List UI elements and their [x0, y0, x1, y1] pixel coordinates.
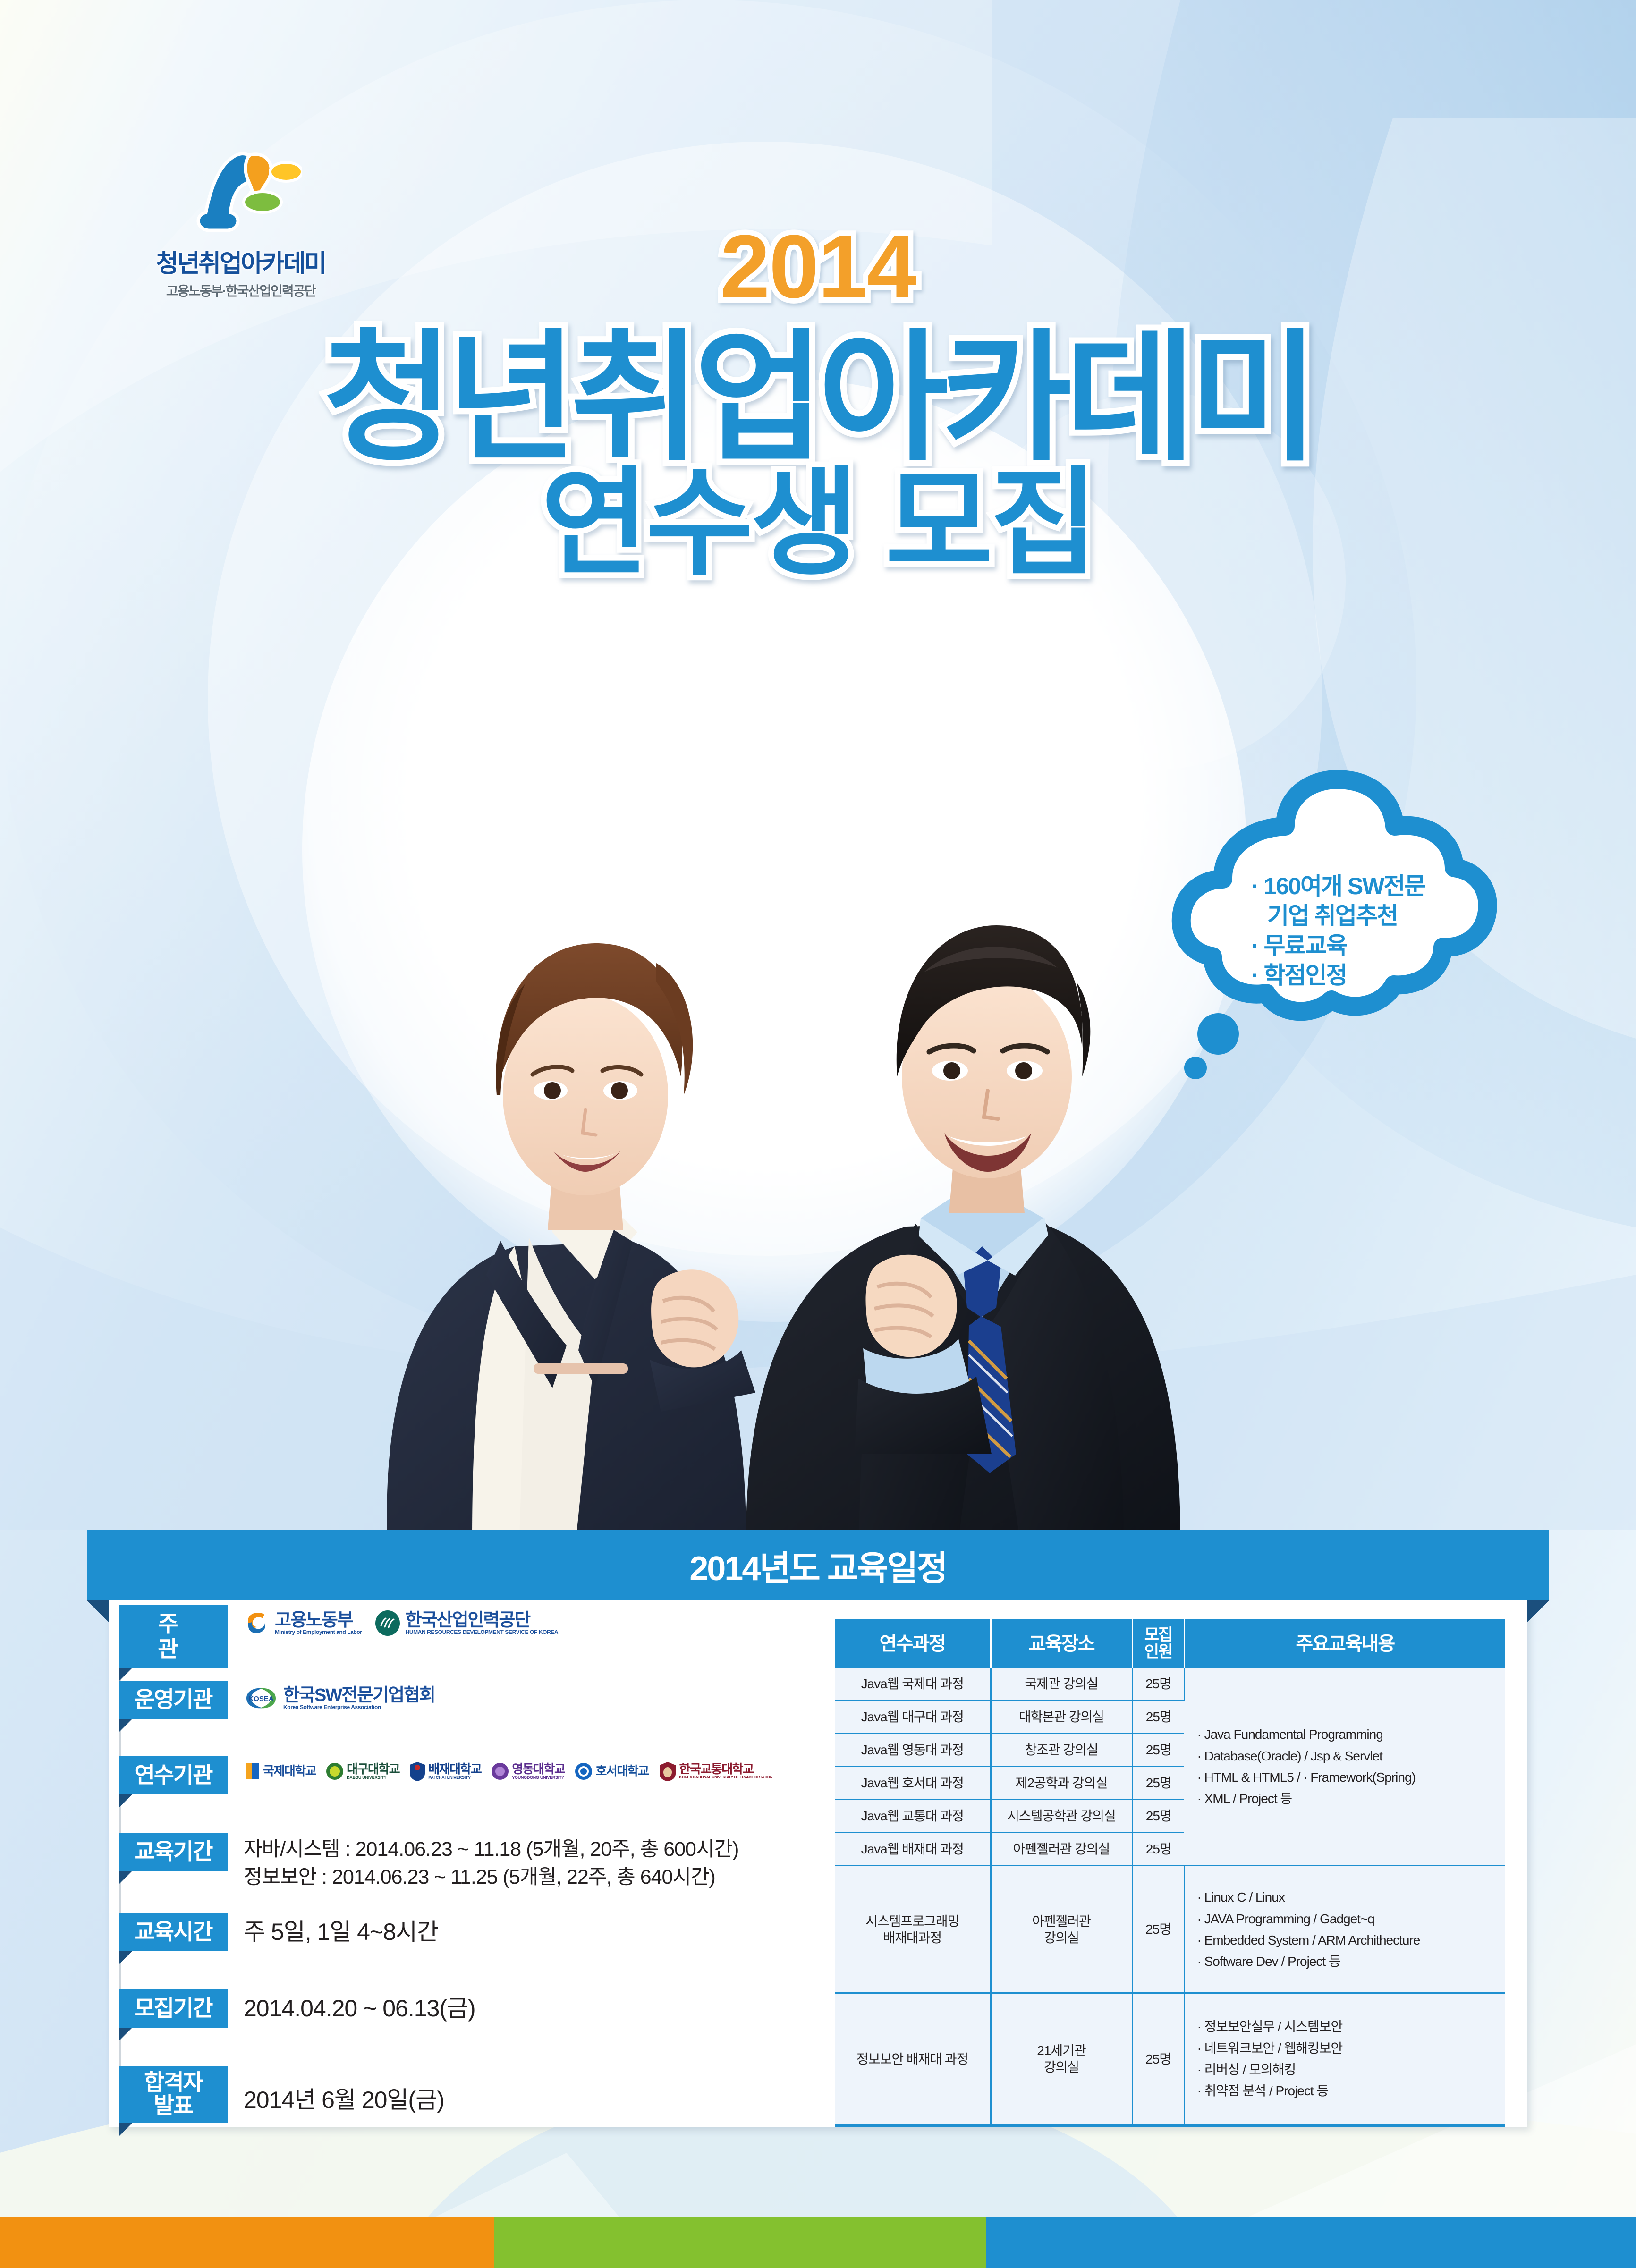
desc-line: · XML / Project 등 — [1197, 1788, 1503, 1809]
info-row-operator: 운영기관 KOSEA 한국SW전문기업협회 Korea Software Ent… — [119, 1681, 813, 1752]
cell-course: Java웹 대구대 과정 — [835, 1701, 991, 1734]
uni-knut: 한국교통대학교 KOREA NATIONAL UNIVERSITY OF TRA… — [658, 1761, 773, 1782]
schedule-banner: 2014년도 교육일정 — [0, 1530, 1636, 1615]
students-photo — [331, 718, 1204, 1539]
headline-year: 2014 — [0, 222, 1636, 312]
cell-place: 제2공학과 강의실 — [991, 1767, 1132, 1800]
result-announcement-line-0: 2014년 6월 20일(금) — [244, 2084, 444, 2116]
logo-kosea-en: Korea Software Enterprise Association — [283, 1704, 435, 1710]
desc-line: · Linux C / Linux — [1197, 1887, 1503, 1908]
th-course: 연수과정 — [835, 1619, 991, 1668]
tab-training-period: 교육기간 — [119, 1833, 228, 1871]
info-row-training-period: 교육기간 자바/시스템 : 2014.06.23 ~ 11.18 (5개월, 2… — [119, 1833, 813, 1908]
footer-strip-orange — [0, 2217, 494, 2268]
uni-knut-en: KOREA NATIONAL UNIVERSITY OF TRANSPORTAT… — [679, 1776, 773, 1779]
uni-badge-icon — [658, 1761, 677, 1782]
logo-moel: 고용노동부 Ministry of Employment and Labor — [244, 1610, 362, 1636]
footer-strip-blue — [986, 2217, 1636, 2268]
uni-badge-icon — [409, 1761, 426, 1782]
footer-color-strip — [0, 2217, 1636, 2268]
application-period-line-0: 2014.04.20 ~ 06.13(금) — [244, 1992, 475, 2025]
cell-capacity: 25명 — [1132, 1833, 1184, 1866]
logo-moel-ko: 고용노동부 — [275, 1611, 362, 1629]
desc-line: · HTML & HTML5 / · Framework(Spring) — [1197, 1767, 1503, 1788]
desc-line: · Software Dev / Project 등 — [1197, 1951, 1503, 1972]
uni-kukje-ko: 국제대학교 — [263, 1765, 316, 1777]
uni-badge-icon — [491, 1761, 509, 1781]
tab-fold-icon — [119, 2028, 132, 2041]
cell-description-group2: · Linux C / Linux · JAVA Programming / G… — [1184, 1866, 1505, 1993]
cell-place: 21세기관 강의실 — [991, 1993, 1132, 2125]
headline-line1: 청년취업아카데미 — [0, 329, 1636, 467]
tab-operator: 운영기관 — [119, 1681, 228, 1719]
tab-operator-label: 운영기관 — [119, 1681, 228, 1719]
logo-hrdkorea-en: HUMAN RESOURCES DEVELOPMENT SERVICE OF K… — [406, 1629, 559, 1635]
uni-kukje: 국제대학교 — [244, 1761, 316, 1781]
banner-title: 2014년도 교육일정 — [689, 1540, 947, 1590]
cloud-line-2: · 무료교육 — [1251, 931, 1483, 961]
uni-paichai: 배재대학교 PAI CHAI UNIVERSITY — [409, 1761, 481, 1782]
uni-youngdong: 영동대학교 YOUNGDONG UNIVERSITY — [491, 1761, 565, 1781]
tab-fold-icon — [119, 1719, 132, 1732]
tab-training-hours: 교육시간 — [119, 1913, 228, 1951]
desc-line: · 리버싱 / 모의해킹 — [1197, 2059, 1503, 2080]
desc-line: · Java Fundamental Programming — [1197, 1724, 1503, 1745]
cloud-line-3: · 학점인정 — [1251, 961, 1483, 990]
training-period-values: 자바/시스템 : 2014.06.23 ~ 11.18 (5개월, 20주, 총… — [228, 1833, 738, 1892]
table-row: 시스템프로그래밍 배재대과정 아펜젤러관 강의실 25명 · Linux C /… — [835, 1866, 1505, 1993]
tab-fold-icon — [119, 1951, 132, 1964]
uni-daegu: 대구대학교 DAEGU UNIVERSITY — [325, 1761, 399, 1781]
tab-fold-icon — [119, 2123, 132, 2136]
kosea-mark-icon: KOSEA — [244, 1685, 279, 1711]
uni-youngdong-en: YOUNGDONG UNIVERSITY — [512, 1776, 565, 1780]
info-row-training-institutions: 연수기관 국제대학교 대구대학교 DAEGU UNIVERSITY — [119, 1756, 813, 1828]
training-hours-line-0: 주 5일, 1일 4~8시간 — [244, 1916, 438, 1948]
tab-training-period-label: 교육기간 — [119, 1833, 228, 1871]
tab-fold-icon — [119, 1794, 132, 1808]
headline-block: 2014 청년취업아카데미 연수생 모집 — [0, 222, 1636, 582]
cell-capacity: 25명 — [1132, 1701, 1184, 1734]
cell-course: 시스템프로그래밍 배재대과정 — [835, 1866, 991, 1993]
cell-place: 국제관 강의실 — [991, 1668, 1132, 1701]
cloud-benefits-text: · 160여개 SW전문 기업 취업추천 · 무료교육 · 학점인정 — [1251, 872, 1483, 990]
cell-place: 대학본관 강의실 — [991, 1701, 1132, 1734]
uni-knut-ko: 한국교통대학교 — [679, 1763, 773, 1776]
tab-training-institutions: 연수기관 — [119, 1756, 228, 1794]
logo-kosea-ko: 한국SW전문기업협회 — [283, 1686, 435, 1704]
table-row: 정보보안 배재대 과정 21세기관 강의실 25명 · 정보보안실무 / 시스템… — [835, 1993, 1505, 2125]
uni-youngdong-ko: 영동대학교 — [512, 1763, 565, 1776]
cell-capacity: 25명 — [1132, 1734, 1184, 1767]
info-list: 주 관 고용노동부 Ministry of Employment and Lab… — [119, 1605, 813, 2146]
svg-text:KOSEA: KOSEA — [248, 1695, 274, 1703]
operator-logos: KOSEA 한국SW전문기업협회 Korea Software Enterpri… — [228, 1681, 435, 1711]
th-place: 교육장소 — [991, 1619, 1132, 1668]
cell-place: 아펜젤러관 강의실 — [991, 1833, 1132, 1866]
tab-training-institutions-label: 연수기관 — [119, 1756, 228, 1794]
schedule-table: 연수과정 교육장소 모집 인원 주요교육내용 Java웹 국제대 과정 국제관 … — [835, 1619, 1505, 2127]
banner-bar: 2014년도 교육일정 — [87, 1530, 1549, 1600]
application-period-values: 2014.04.20 ~ 06.13(금) — [228, 1989, 475, 2025]
cell-course: Java웹 호서대 과정 — [835, 1767, 991, 1800]
uni-daegu-ko: 대구대학교 — [347, 1763, 399, 1776]
info-row-result-announcement: 합격자 발표 2014년 6월 20일(금) — [119, 2066, 813, 2141]
result-announcement-values: 2014년 6월 20일(금) — [228, 2066, 444, 2116]
desc-line: · 네트워크보안 / 웹해킹보안 — [1197, 2038, 1503, 2059]
info-row-training-hours: 교육시간 주 5일, 1일 4~8시간 — [119, 1913, 813, 1985]
cell-course: Java웹 교통대 과정 — [835, 1800, 991, 1833]
th-description: 주요교육내용 — [1184, 1619, 1505, 1668]
headline-line2: 연수생 모집 — [0, 465, 1636, 582]
host-logos: 고용노동부 Ministry of Employment and Labor 한… — [228, 1605, 558, 1636]
footer-strip-green — [494, 2217, 986, 2268]
desc-line: · JAVA Programming / Gadget~q — [1197, 1908, 1503, 1929]
th-capacity: 모집 인원 — [1132, 1619, 1184, 1668]
logo-moel-en: Ministry of Employment and Labor — [275, 1629, 362, 1635]
university-logos: 국제대학교 대구대학교 DAEGU UNIVERSITY 배재대학교 PA — [228, 1756, 772, 1782]
banner-fold-right-icon — [1527, 1600, 1549, 1622]
uni-badge-icon — [325, 1761, 344, 1781]
cell-course: Java웹 배재대 과정 — [835, 1833, 991, 1866]
moel-mark-icon — [244, 1610, 270, 1636]
tab-fold-icon — [119, 1668, 132, 1681]
desc-line: · Database(Oracle) / Jsp & Servlet — [1197, 1745, 1503, 1767]
logo-kosea: KOSEA 한국SW전문기업협회 Korea Software Enterpri… — [244, 1685, 435, 1711]
uni-paichai-ko: 배재대학교 — [428, 1763, 481, 1776]
tab-result-announcement: 합격자 발표 — [119, 2066, 228, 2123]
tab-application-period-label: 모집기간 — [119, 1989, 228, 2028]
desc-line: · 취약점 분석 / Project 등 — [1197, 2080, 1503, 2101]
cell-description-group1: · Java Fundamental Programming · Databas… — [1184, 1668, 1505, 1866]
tab-result-announcement-label: 합격자 발표 — [119, 2066, 228, 2123]
uni-paichai-en: PAI CHAI UNIVERSITY — [428, 1776, 481, 1780]
cell-place: 창조관 강의실 — [991, 1734, 1132, 1767]
uni-hoseo-ko: 호서대학교 — [595, 1765, 648, 1777]
uni-hoseo: 호서대학교 — [574, 1761, 648, 1781]
cloud-line-0: · 160여개 SW전문 — [1251, 872, 1483, 901]
tab-application-period: 모집기간 — [119, 1989, 228, 2028]
male-student — [746, 925, 1180, 1539]
cell-course: Java웹 영동대 과정 — [835, 1734, 991, 1767]
cell-course: Java웹 국제대 과정 — [835, 1668, 991, 1701]
cell-capacity: 25명 — [1132, 1866, 1184, 1993]
cell-capacity: 25명 — [1132, 1767, 1184, 1800]
cell-place: 아펜젤러관 강의실 — [991, 1866, 1132, 1993]
hrdkorea-mark-icon — [374, 1610, 401, 1636]
cell-course: 정보보안 배재대 과정 — [835, 1993, 991, 2125]
cloud-line-1: 기업 취업추천 — [1251, 901, 1483, 931]
desc-line: · Embedded System / ARM Archithecture — [1197, 1929, 1503, 1951]
uni-badge-icon — [574, 1761, 593, 1781]
two-students-illustration — [331, 718, 1204, 1539]
info-row-application-period: 모집기간 2014.04.20 ~ 06.13(금) — [119, 1989, 813, 2061]
cell-capacity: 25명 — [1132, 1668, 1184, 1701]
desc-line: · 정보보안실무 / 시스템보안 — [1197, 2016, 1503, 2037]
tab-host-label: 주 관 — [119, 1605, 228, 1668]
cell-capacity: 25명 — [1132, 1993, 1184, 2125]
uni-badge-icon — [244, 1761, 261, 1781]
info-row-host: 주 관 고용노동부 Ministry of Employment and Lab… — [119, 1605, 813, 1676]
cell-place: 시스템공학관 강의실 — [991, 1800, 1132, 1833]
logo-hrdkorea-ko: 한국산업인력공단 — [406, 1611, 559, 1629]
table-header-row: 연수과정 교육장소 모집 인원 주요교육내용 — [835, 1619, 1505, 1668]
cell-description-group3: · 정보보안실무 / 시스템보안 · 네트워크보안 / 웹해킹보안 · 리버싱 … — [1184, 1993, 1505, 2125]
tab-fold-icon — [119, 1871, 132, 1884]
training-hours-values: 주 5일, 1일 4~8시간 — [228, 1913, 438, 1948]
logo-hrdkorea: 한국산업인력공단 HUMAN RESOURCES DEVELOPMENT SER… — [374, 1610, 559, 1636]
tab-training-hours-label: 교육시간 — [119, 1913, 228, 1951]
table-row: Java웹 국제대 과정 국제관 강의실 25명 · Java Fundamen… — [835, 1668, 1505, 1701]
banner-fold-left-icon — [87, 1600, 109, 1622]
female-student — [387, 943, 755, 1539]
uni-daegu-en: DAEGU UNIVERSITY — [347, 1776, 399, 1780]
benefits-thought-cloud: · 160여개 SW전문 기업 취업추천 · 무료교육 · 학점인정 — [1161, 755, 1511, 1086]
cell-capacity: 25명 — [1132, 1800, 1184, 1833]
training-period-line-0: 자바/시스템 : 2014.06.23 ~ 11.18 (5개월, 20주, 총… — [244, 1836, 738, 1863]
training-period-line-1: 정보보안 : 2014.06.23 ~ 11.25 (5개월, 22주, 총 6… — [244, 1863, 738, 1891]
tab-host: 주 관 — [119, 1605, 228, 1668]
